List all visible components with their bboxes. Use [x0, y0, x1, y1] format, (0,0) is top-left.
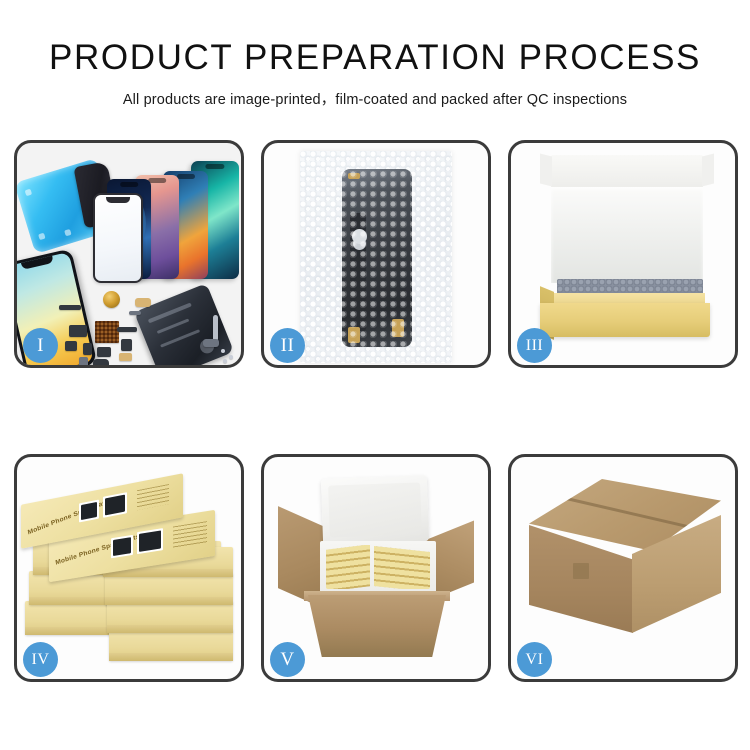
product-preparation-infographic: PRODUCT PREPARATION PROCESS All products… — [0, 0, 750, 750]
process-step-panel-6: VI — [508, 454, 738, 682]
process-step-panel-1: I — [14, 140, 244, 368]
carton-front — [308, 595, 446, 657]
process-step-panel-4: Mobile Phone Spare Parts Mobile Phone Sp… — [14, 454, 244, 682]
page-title: PRODUCT PREPARATION PROCESS — [0, 0, 750, 77]
wrapped-part — [342, 169, 412, 347]
foam-liner — [551, 187, 703, 283]
box-lid — [551, 155, 703, 189]
step-badge-6: VI — [517, 642, 552, 677]
process-step-panel-2: II — [261, 140, 491, 368]
process-step-panel-5: V — [261, 454, 491, 682]
box-label-upper: Mobile Phone Spare Parts — [27, 497, 112, 536]
packed-boxes — [326, 545, 430, 589]
box-front — [540, 303, 710, 337]
step-badge-5: V — [270, 642, 305, 677]
process-step-panel-3: III — [508, 140, 738, 368]
bubble-bag — [300, 151, 452, 363]
foam-cooler-lid — [321, 475, 429, 545]
step-badge-4: IV — [23, 642, 58, 677]
step-badge-2: II — [270, 328, 305, 363]
step-badge-1: I — [23, 328, 58, 363]
page-subtitle: All products are image-printed，film-coat… — [0, 77, 750, 109]
header: PRODUCT PREPARATION PROCESS All products… — [0, 0, 750, 109]
step-badge-3: III — [517, 328, 552, 363]
process-steps-grid: I II — [14, 140, 738, 682]
